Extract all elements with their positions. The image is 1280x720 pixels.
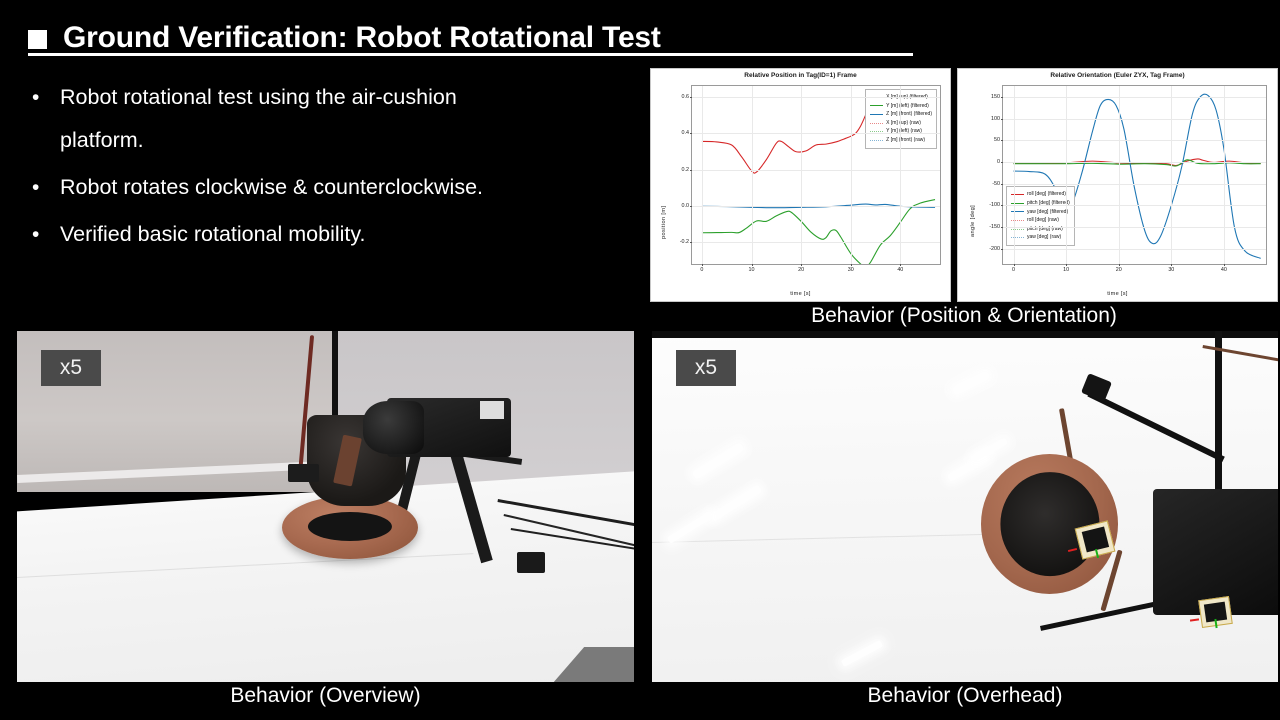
y-tick-mark [690,242,692,243]
y-tick-mark [1001,119,1003,120]
plot-area: X [m] (up) (filtered)Y [m] (left) (filte… [691,85,941,265]
y-tick-label: -200 [989,246,1000,252]
y-tick-mark [1001,97,1003,98]
legend-label: Y [m] (left) (filtered) [886,102,929,111]
grid-line [692,97,940,98]
bullet-dot-icon: • [28,166,60,209]
camera-body [1153,489,1278,615]
x-tick-label: 30 [1168,267,1174,273]
frame-bar-vertical [1215,331,1222,499]
legend-swatch [870,123,883,124]
y-tick-label: 50 [994,137,1000,143]
y-tick-label: 0.2 [682,167,690,173]
y-tick-mark [1001,140,1003,141]
caption-overview: Behavior (Overview) [17,684,634,708]
y-tick-mark [1001,205,1003,206]
y-tick-mark [690,170,692,171]
title-underline [28,53,913,56]
plot-area: roll [deg] (filtered)pitch [deg] (filter… [1002,85,1267,265]
robot-foot [288,464,319,482]
bullet-dot-icon: • [28,76,60,119]
y-tick-mark [1001,162,1003,163]
frame-bar-top [652,331,1278,338]
grid-line [1003,140,1266,141]
grid-line [1066,86,1067,264]
chart-y-axis-label: angle [deg] [970,205,976,237]
legend-swatch [870,131,883,132]
grid-line [702,86,703,264]
legend-item: pitch [deg] (raw) [1011,225,1070,234]
y-tick-label: -50 [992,181,1000,187]
camera-tag [480,401,505,419]
y-tick-label: 0.0 [682,203,690,209]
x-tick-mark [1119,264,1120,266]
y-tick-label: 0.4 [682,130,690,136]
bullet-list: • Robot rotational test using the air-cu… [28,76,648,260]
x-tick-mark [1171,264,1172,266]
x-tick-mark [851,264,852,266]
y-tick-mark [690,206,692,207]
grid-line [1119,86,1120,264]
x-tick-label: 10 [749,267,755,273]
chart-relative-orientation: Relative Orientation (Euler ZYX, Tag Fra… [957,68,1278,302]
y-tick-mark [1001,184,1003,185]
y-tick-label: 0 [997,159,1000,165]
chart-relative-position: Relative Position in Tag(ID=1) Frame pos… [650,68,951,302]
speed-badge: x5 [676,350,736,386]
legend-label: roll [deg] (raw) [1027,216,1059,225]
title-text: Ground Verification: Robot Rotational Te… [63,23,661,53]
x-tick-label: 40 [1221,267,1227,273]
y-tick-label: -150 [989,224,1000,230]
grid-line [851,86,852,264]
x-tick-label: 30 [848,267,854,273]
ring-center [308,512,392,541]
x-tick-mark [1066,264,1067,266]
legend-label: Y [m] (left) (raw) [886,127,922,136]
x-tick-label: 20 [798,267,804,273]
y-tick-label: 0.6 [682,94,690,100]
x-tick-label: 0 [700,267,703,273]
chart-x-axis-label: time [s] [958,291,1277,297]
caption-charts: Behavior (Position & Orientation) [650,304,1278,328]
bullet-text: Robot rotational test using the air-cush… [60,76,648,162]
legend-label: yaw [deg] (raw) [1027,233,1061,242]
grid-line [1171,86,1172,264]
x-tick-mark [1014,264,1015,266]
x-tick-mark [1224,264,1225,266]
bullet-dot-icon: • [28,213,60,256]
legend-item: yaw [deg] (raw) [1011,233,1070,242]
legend-swatch [870,140,883,141]
legend-label: roll [deg] (filtered) [1027,190,1066,199]
x-tick-mark [702,264,703,266]
legend-label: Z [m] (front) (raw) [886,136,925,145]
speed-badge: x5 [41,350,101,386]
x-tick-label: 40 [897,267,903,273]
x-tick-label: 20 [1116,267,1122,273]
grid-line [752,86,753,264]
grid-line [1003,97,1266,98]
bullet-text: Verified basic rotational mobility. [60,213,648,256]
list-item: • Robot rotates clockwise & counterclock… [28,166,648,209]
grid-line [1003,119,1266,120]
chart-title: Relative Position in Tag(ID=1) Frame [651,72,950,79]
square-bullet-icon [28,30,47,49]
x-tick-label: 0 [1012,267,1015,273]
y-tick-label: 150 [991,94,1000,100]
grid-line [692,242,940,243]
slide-root: Ground Verification: Robot Rotational Te… [0,0,1280,720]
tripod-foot [517,552,545,573]
y-tick-label: -0.2 [680,239,689,245]
legend-item: roll [deg] (filtered) [1011,190,1070,199]
grid-line [1003,227,1266,228]
legend-label: yaw [deg] (filtered) [1027,208,1068,217]
photo-overview: x5 [17,331,634,682]
list-item: • Robot rotational test using the air-cu… [28,76,648,162]
y-tick-mark [1001,227,1003,228]
grid-line [1003,162,1266,163]
legend-label: Z [m] (front) (filtered) [886,110,932,119]
robot-body [1000,472,1099,576]
x-tick-label: 10 [1063,267,1069,273]
chart-legend: roll [deg] (filtered)pitch [deg] (filter… [1006,186,1075,246]
y-tick-mark [690,97,692,98]
grid-line [801,86,802,264]
legend-swatch [870,114,883,115]
bullet-text: Robot rotates clockwise & counterclockwi… [60,166,648,209]
camera-lens [363,401,425,454]
chart-x-axis-label: time [s] [651,291,950,297]
y-tick-label: 100 [991,116,1000,122]
legend-item: roll [deg] (raw) [1011,216,1070,225]
x-tick-mark [900,264,901,266]
grid-line [1014,86,1015,264]
y-tick-mark [690,133,692,134]
photo-overhead: x5 [652,331,1278,682]
grid-line [692,133,940,134]
list-item: • Verified basic rotational mobility. [28,213,648,256]
legend-swatch [870,105,883,106]
grid-line [900,86,901,264]
y-tick-label: -100 [989,202,1000,208]
grid-line [1003,249,1266,250]
legend-label: X [m] (up) (raw) [886,119,921,128]
x-tick-mark [801,264,802,266]
y-tick-mark [1001,249,1003,250]
caption-overhead: Behavior (Overhead) [652,684,1278,708]
grid-line [1224,86,1225,264]
legend-label: pitch [deg] (raw) [1027,225,1063,234]
grid-line [1003,205,1266,206]
x-tick-mark [752,264,753,266]
grid-line [1003,184,1266,185]
grid-line [692,206,940,207]
page-title: Ground Verification: Robot Rotational Te… [28,18,918,58]
legend-item: yaw [deg] (filtered) [1011,208,1070,217]
grid-line [692,170,940,171]
chart-title: Relative Orientation (Euler ZYX, Tag Fra… [958,72,1277,79]
chart-y-axis-label: position [m] [661,206,667,239]
